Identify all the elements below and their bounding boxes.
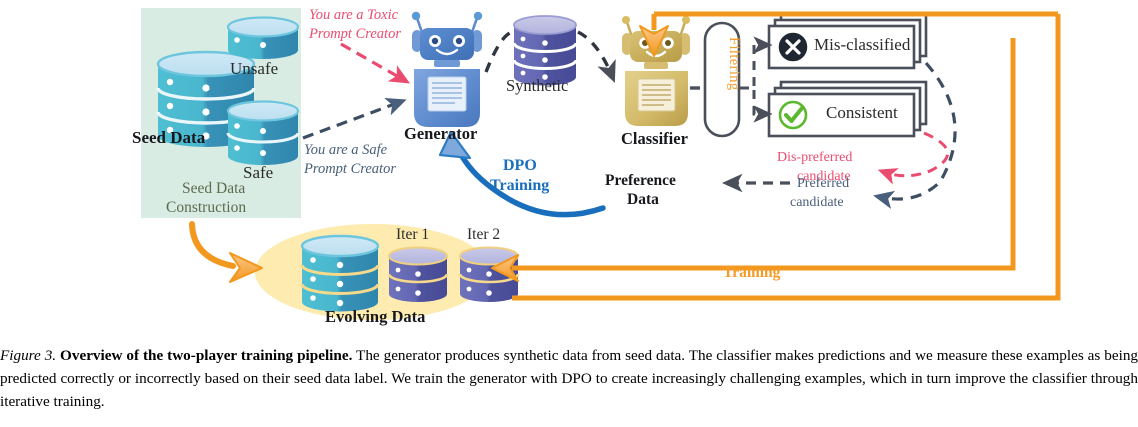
arrow-toxic-to-generator — [341, 44, 404, 80]
iter1-label: Iter 1 — [396, 226, 429, 243]
generator-robot-icon — [412, 12, 482, 127]
arrow-synthetic-to-classifier — [578, 32, 612, 76]
synthetic-label: Synthetic — [506, 77, 568, 95]
circle-check-icon — [780, 102, 806, 128]
unsafe-label: Unsafe — [230, 60, 278, 79]
iter2-label: Iter 2 — [467, 226, 500, 243]
figure-caption: Figure 3. Overview of the two-player tra… — [0, 344, 1138, 413]
arrow-safe-to-generator — [303, 102, 400, 138]
diagram-canvas — [0, 0, 1138, 340]
pipeline-diagram: Seed Data Unsafe Safe Seed Data Construc… — [0, 0, 1138, 340]
safe-prompt-line2: Prompt Creator — [304, 162, 396, 178]
preference-data-line1: Preference — [605, 172, 676, 189]
preferred-line2: candidate — [790, 195, 844, 210]
dispreferred-line1: Dis-preferred — [777, 150, 852, 165]
toxic-prompt-line2: Prompt Creator — [309, 27, 401, 43]
dpo-line1: DPO — [503, 157, 537, 175]
training-loop-label: Training — [723, 264, 780, 281]
figure-container: Seed Data Unsafe Safe Seed Data Construc… — [0, 0, 1138, 427]
arrow-generator-to-synthetic — [486, 32, 512, 72]
training-loop-inner — [512, 38, 1013, 268]
evolving-main-cylinder — [302, 236, 378, 312]
arrow-filtering-to-consistent — [740, 88, 766, 114]
unsafe-cylinder — [228, 18, 298, 60]
generator-label: Generator — [404, 125, 477, 143]
figure-headline: Overview of the two-player training pipe… — [60, 347, 352, 364]
preference-data-line2: Data — [627, 191, 659, 208]
preferred-line1: Preferred — [797, 176, 849, 191]
safe-prompt-line1: You are a Safe — [304, 143, 387, 159]
seed-data-label: Seed Data — [132, 129, 205, 148]
misclassified-label: Mis-classified — [814, 36, 910, 55]
figure-number: Figure 3. — [0, 347, 56, 364]
safe-cylinder — [228, 102, 298, 166]
seed-construction-line2: Construction — [166, 199, 246, 216]
toxic-prompt-line1: You are a Toxic — [309, 8, 398, 24]
safe-label: Safe — [243, 164, 273, 183]
consistent-label: Consistent — [826, 104, 898, 123]
filtering-label: Filtering — [703, 37, 741, 91]
seed-construction-line1: Seed Data — [182, 180, 245, 197]
circle-cross-icon — [780, 34, 806, 60]
arrow-filtering-to-misclassified — [740, 45, 766, 88]
evolving-iter1-cylinder — [389, 248, 447, 303]
classifier-label: Classifier — [621, 130, 688, 148]
arrow-consistent-to-dispreferred — [884, 133, 948, 176]
arrow-seed-to-evolving — [192, 224, 233, 266]
dpo-line2: Training — [490, 177, 549, 195]
evolving-data-label: Evolving Data — [325, 308, 425, 326]
